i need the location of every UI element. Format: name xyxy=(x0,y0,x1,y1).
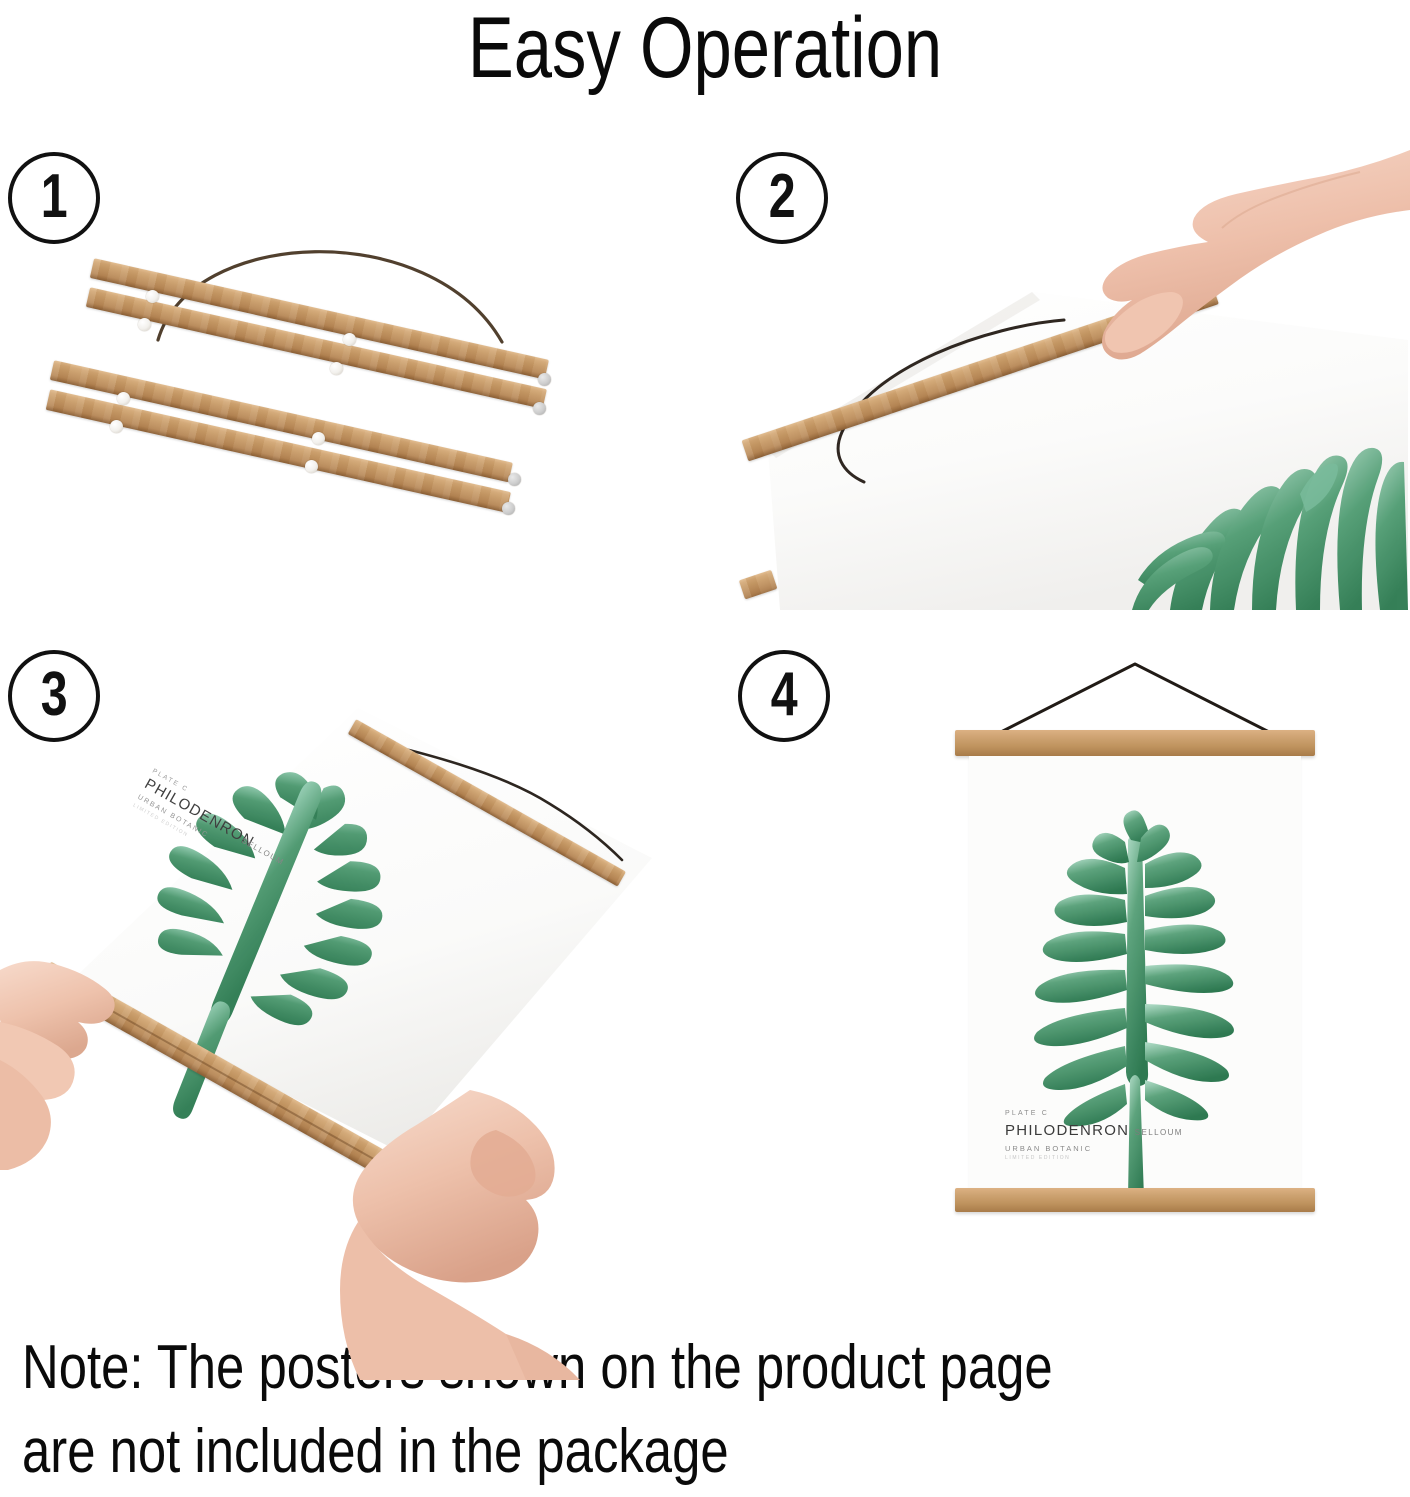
hand-holding-slat-step2 xyxy=(1060,150,1410,480)
poster-plate-label: PLATE C xyxy=(1005,1110,1183,1117)
step-number-1: 1 xyxy=(41,166,68,228)
step-number-2: 2 xyxy=(769,166,796,228)
magnet-dot xyxy=(138,318,151,331)
step-badge-4: 4 xyxy=(738,650,830,742)
poster-brand-subline: LIMITED EDITION xyxy=(1005,1155,1183,1161)
magnet-dot xyxy=(110,420,123,433)
poster-species-name: PHILODENRON xyxy=(1005,1122,1129,1139)
hanging-cord-step2 xyxy=(820,300,1080,490)
magnet-dot xyxy=(117,392,130,405)
poster-sheet-step4: PLATE C PHILODENRON SELLOUM URBAN BOTANI… xyxy=(969,756,1301,1188)
step-number-4: 4 xyxy=(771,664,798,726)
magnet-dot xyxy=(305,460,318,473)
poster-brand: URBAN BOTANIC xyxy=(1005,1144,1183,1153)
magnet-dot xyxy=(533,402,546,415)
hanging-cord-step4 xyxy=(955,660,1315,736)
infographic-canvas: Easy Operation 1 xyxy=(0,0,1410,1497)
magnet-dot xyxy=(146,290,159,303)
page-title: Easy Operation xyxy=(141,2,1269,94)
poster-species-variant: SELLOUM xyxy=(1135,1128,1183,1137)
magnet-dot xyxy=(330,362,343,375)
wood-slat-bottom-step4 xyxy=(955,1188,1315,1212)
magnet-dot xyxy=(538,373,551,386)
step-badge-1: 1 xyxy=(8,152,100,244)
magnet-dot xyxy=(502,502,515,515)
magnet-dot xyxy=(343,333,356,346)
hand-left-step3 xyxy=(0,930,190,1230)
magnet-dot xyxy=(508,473,521,486)
panel-4-finished-frame: PLATE C PHILODENRON SELLOUM URBAN BOTANI… xyxy=(955,660,1315,1260)
magnet-dot xyxy=(312,432,325,445)
hand-right-step3 xyxy=(300,1090,640,1390)
hanging-cord-step3 xyxy=(350,700,650,880)
wood-slat-top-step4 xyxy=(955,730,1315,756)
poster-caption: PLATE C PHILODENRON SELLOUM URBAN BOTANI… xyxy=(1005,1110,1183,1161)
note-line-2: are not included in the package xyxy=(22,1410,1145,1494)
step-badge-2: 2 xyxy=(736,152,828,244)
